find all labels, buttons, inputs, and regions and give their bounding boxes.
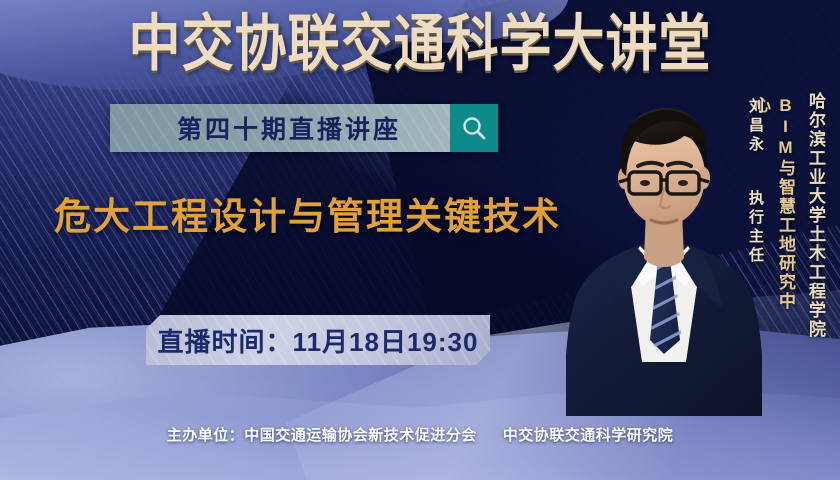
episode-bar: 第四十期直播讲座 [110, 104, 498, 152]
footer-organizer-1: 中国交通运输协会新技术促进分会 [244, 427, 477, 444]
page-title: 中交协联交通科学大讲堂 [0, 14, 840, 75]
search-icon[interactable] [450, 104, 498, 152]
lecture-poster: 中交协联交通科学大讲堂 第四十期直播讲座 危大工程设计与管理关键技术 直播时间：… [0, 0, 840, 480]
footer-prefix: 主办单位： [167, 427, 245, 444]
lecture-title: 危大工程设计与管理关键技术 [54, 186, 561, 240]
broadcast-time: 直播时间：11月18日19:30 [146, 315, 490, 365]
footer-organizer-2: 中交协联交通科学研究院 [503, 427, 674, 444]
speaker-name: 刘昌永 [745, 98, 766, 178]
footer-organizers: 主办单位：中国交通运输协会新技术促进分会中交协联交通科学研究院 [0, 424, 840, 445]
speaker-role: 执行主任 [745, 190, 766, 285]
episode-label: 第四十期直播讲座 [110, 104, 450, 152]
speaker-affiliation-college: 哈尔滨工业大学土木工程学院 [803, 92, 828, 392]
speaker-portrait [566, 80, 762, 416]
